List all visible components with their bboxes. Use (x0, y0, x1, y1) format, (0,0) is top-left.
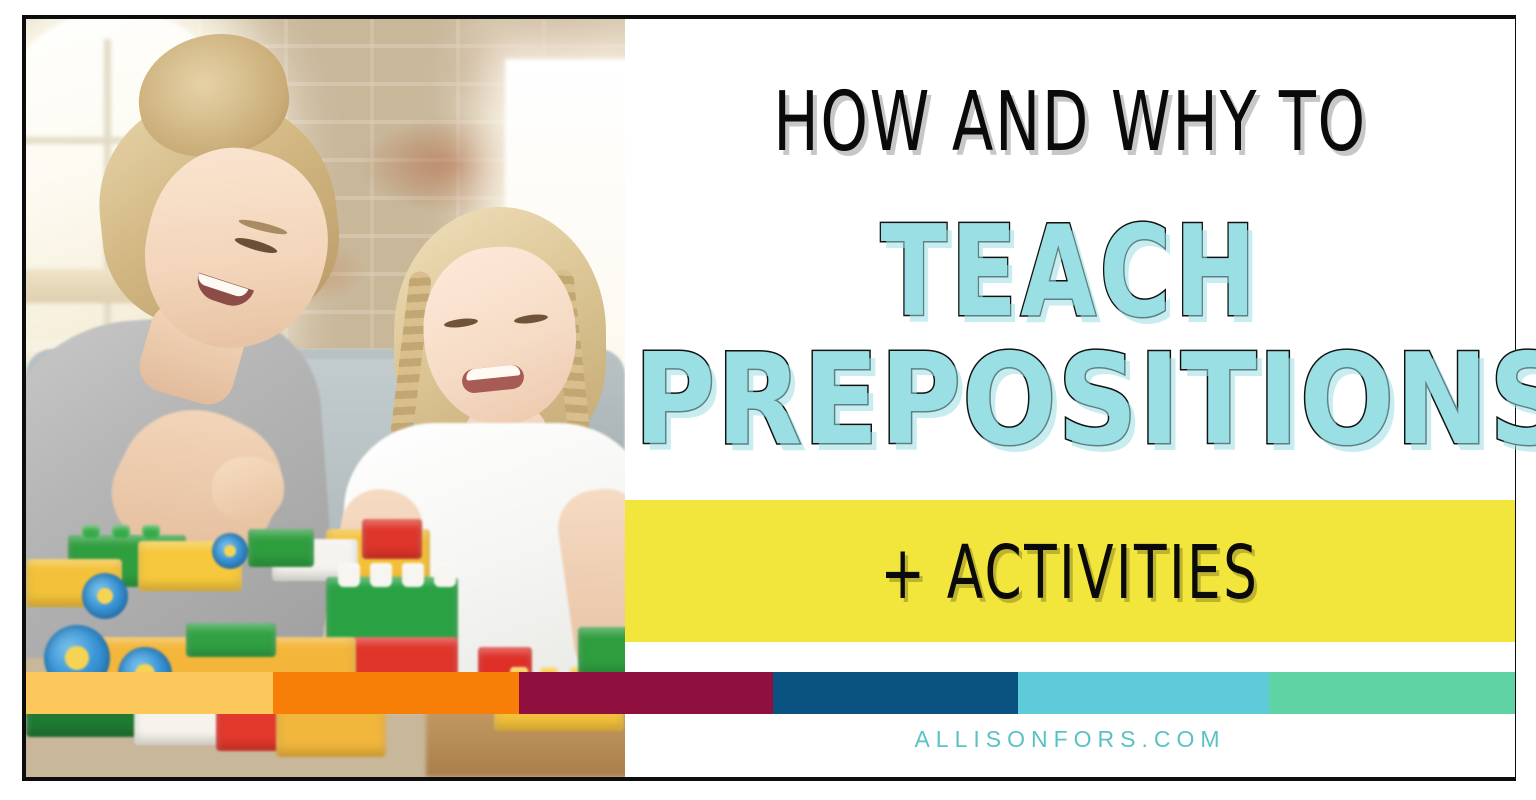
building-blocks-pile (26, 477, 625, 777)
block-stud (112, 525, 130, 538)
block-green (186, 623, 276, 657)
text-panel: HOW AND WHY TO TEACH PREPOSITIONS (625, 19, 1515, 777)
block-green (578, 627, 625, 675)
headline-kicker: HOW AND WHY TO (705, 75, 1435, 170)
headline-teach: TEACH (687, 209, 1452, 335)
website-url: ALLISONFORS.COM (625, 726, 1515, 753)
color-swatch-amber (26, 672, 273, 714)
block-stud (82, 525, 100, 538)
block-wheel (212, 533, 248, 569)
color-swatch-strip (26, 672, 1515, 714)
activities-banner: + ACTIVITIES (625, 500, 1515, 642)
pin-graphic-canvas: HOW AND WHY TO TEACH PREPOSITIONS + ACTI… (0, 0, 1536, 800)
color-swatch-navy-blue (773, 672, 1018, 714)
photo-scene (26, 19, 625, 777)
block-wheel (82, 573, 128, 619)
block-stud (142, 525, 160, 538)
block-stud (402, 563, 424, 587)
block-stud (434, 563, 456, 587)
block-stud (370, 563, 392, 587)
block-green (248, 529, 314, 567)
color-swatch-cyan (1018, 672, 1269, 714)
block-red (362, 519, 422, 559)
headline-prepositions: PREPOSITIONS (634, 337, 1506, 463)
color-swatch-green (1269, 672, 1515, 714)
hero-photo (26, 19, 625, 777)
color-swatch-magenta (519, 672, 773, 714)
activities-banner-text: + ACTIVITIES (881, 530, 1260, 616)
block-stud (338, 563, 360, 587)
color-swatch-orange (273, 672, 519, 714)
